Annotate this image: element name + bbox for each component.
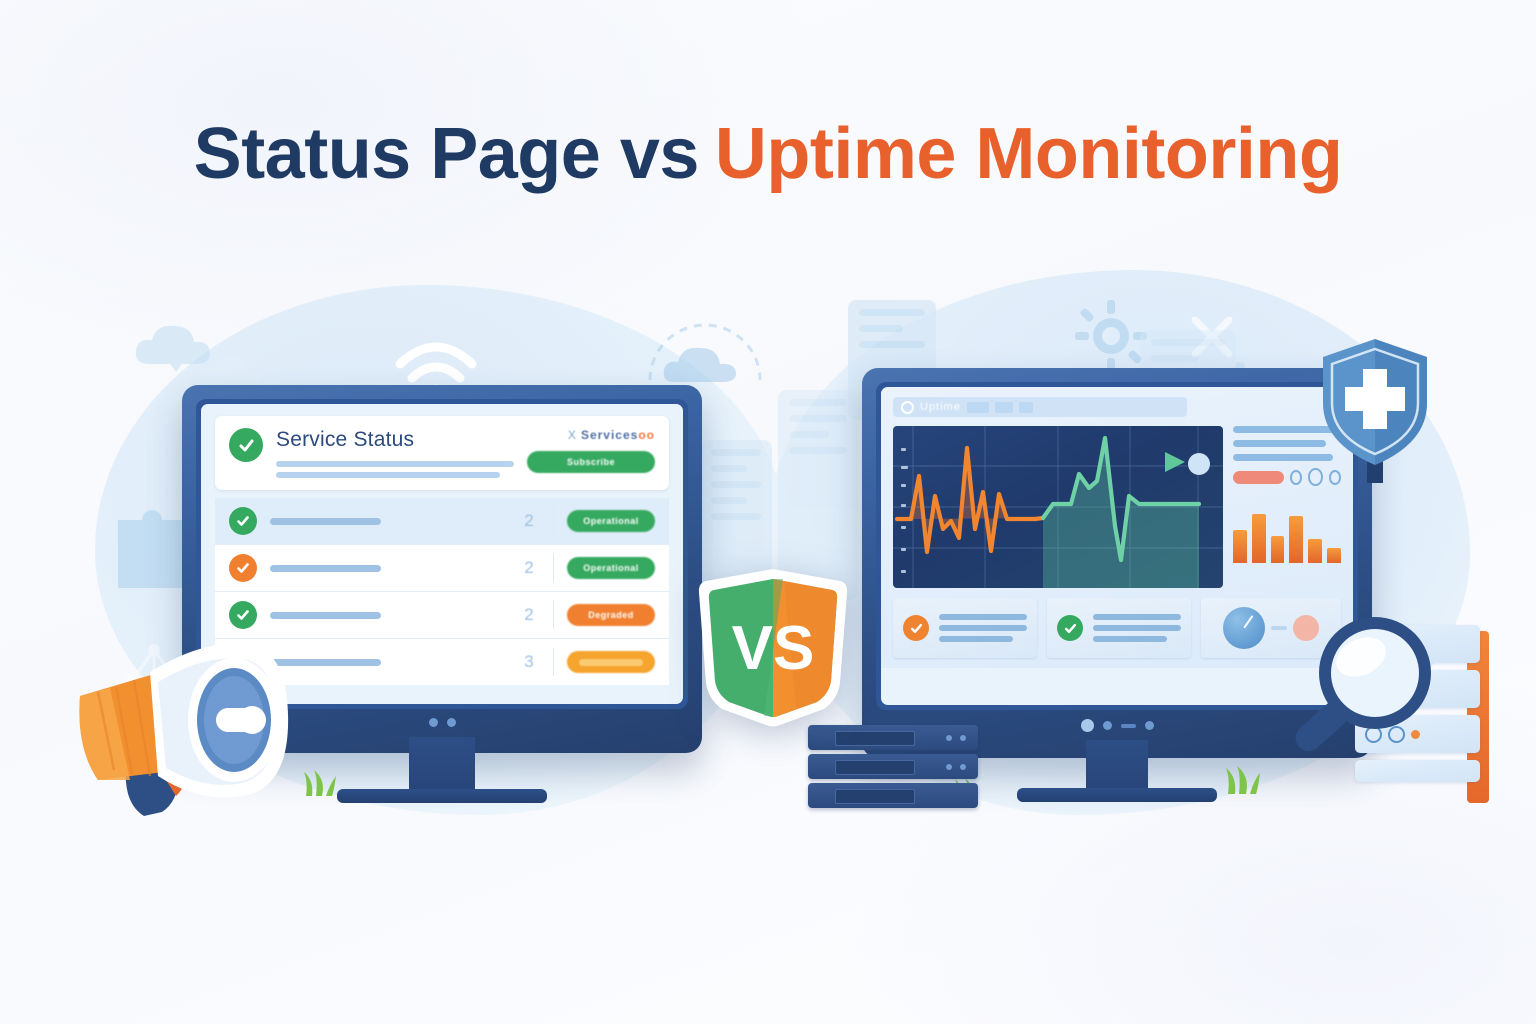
bar [1271, 536, 1285, 563]
brand-prefix: X [568, 428, 577, 442]
response-time-chart [893, 426, 1223, 588]
service-name-bar [270, 565, 381, 572]
row-divider [553, 554, 554, 582]
check-circle-icon [903, 615, 929, 641]
server-unit [808, 783, 978, 808]
power-indicator [1081, 719, 1094, 732]
check-circle-icon [1057, 615, 1083, 641]
indicator-dot [429, 718, 438, 727]
page-title: Status Page vsUptime Monitoring [0, 118, 1536, 190]
url-segment [1019, 402, 1033, 413]
server-unit [808, 754, 978, 779]
url-segment [967, 402, 989, 413]
check-circle-icon [229, 428, 263, 462]
bar [1327, 548, 1341, 563]
title-part-uptime-monitoring: Uptime Monitoring [715, 114, 1342, 194]
server-rack-icon [808, 725, 978, 820]
row-divider [553, 601, 554, 629]
megaphone-icon [58, 630, 333, 820]
bar [1252, 514, 1266, 563]
status-badge [567, 651, 655, 673]
monitor-neck [1086, 740, 1148, 792]
table-row[interactable]: 2 Operational [215, 545, 669, 592]
info-card[interactable] [1047, 598, 1191, 658]
brand-text: Services [581, 428, 638, 442]
table-row[interactable]: 2 Operational [215, 498, 669, 545]
row-count: 2 [518, 511, 540, 531]
check-circle-icon [229, 507, 257, 535]
indicator-dash [1121, 724, 1136, 728]
url-segment [995, 402, 1013, 413]
metric-line [1233, 440, 1326, 447]
indicator-dot [447, 718, 456, 727]
indicator-dot [1145, 721, 1154, 730]
title-part-status-page: Status Page vs [194, 114, 699, 194]
row-count: 2 [518, 605, 540, 625]
status-badge: Operational [567, 510, 655, 532]
row-count: 2 [518, 558, 540, 578]
check-circle-icon [229, 601, 257, 629]
monitor-neck [409, 737, 475, 793]
gear-icon [1075, 300, 1147, 372]
service-name-bar [270, 612, 381, 619]
check-circle-icon [229, 554, 257, 582]
vs-label: VS [732, 614, 815, 683]
url-text: Uptime [920, 401, 961, 413]
subscribe-button[interactable]: Subscribe [527, 451, 655, 473]
service-name-bar [270, 518, 381, 525]
header-placeholder-bar [276, 461, 514, 467]
monitor-base [1017, 788, 1217, 802]
illustration-canvas: Status Page vsUptime Monitoring [0, 0, 1536, 1024]
monitor-base [337, 789, 547, 803]
header-placeholder-bar [276, 472, 500, 478]
magnifier-icon [1285, 605, 1455, 785]
browser-address-bar[interactable]: Uptime [893, 397, 1187, 417]
indicator-dot [1103, 721, 1112, 730]
gauge-icon [1223, 607, 1265, 649]
row-divider [553, 507, 554, 535]
hourly-checks-bar-chart [1233, 499, 1341, 563]
grass-tuft [1222, 766, 1262, 799]
brand-suffix: oo [638, 428, 655, 442]
bar [1308, 539, 1322, 563]
service-status-header: Service Status XServicesoo Subscribe [215, 416, 669, 490]
vs-badge: VS [688, 565, 858, 730]
globe-icon [901, 401, 914, 414]
row-divider [553, 648, 554, 676]
shield-check-icon [1315, 335, 1435, 485]
row-count: 3 [518, 652, 540, 672]
info-cards-row [893, 598, 1341, 658]
service-status-title: Service Status [276, 428, 514, 451]
uptime-dashboard-screen: Uptime [881, 387, 1353, 705]
status-circle-icon [1290, 470, 1302, 485]
bar [1233, 530, 1247, 563]
bar [1289, 516, 1303, 563]
status-badge: Degraded [567, 604, 655, 626]
brand-label: XServicesoo [527, 428, 655, 442]
status-badge: Operational [567, 557, 655, 579]
info-card[interactable] [893, 598, 1037, 658]
alert-pill [1233, 471, 1284, 484]
